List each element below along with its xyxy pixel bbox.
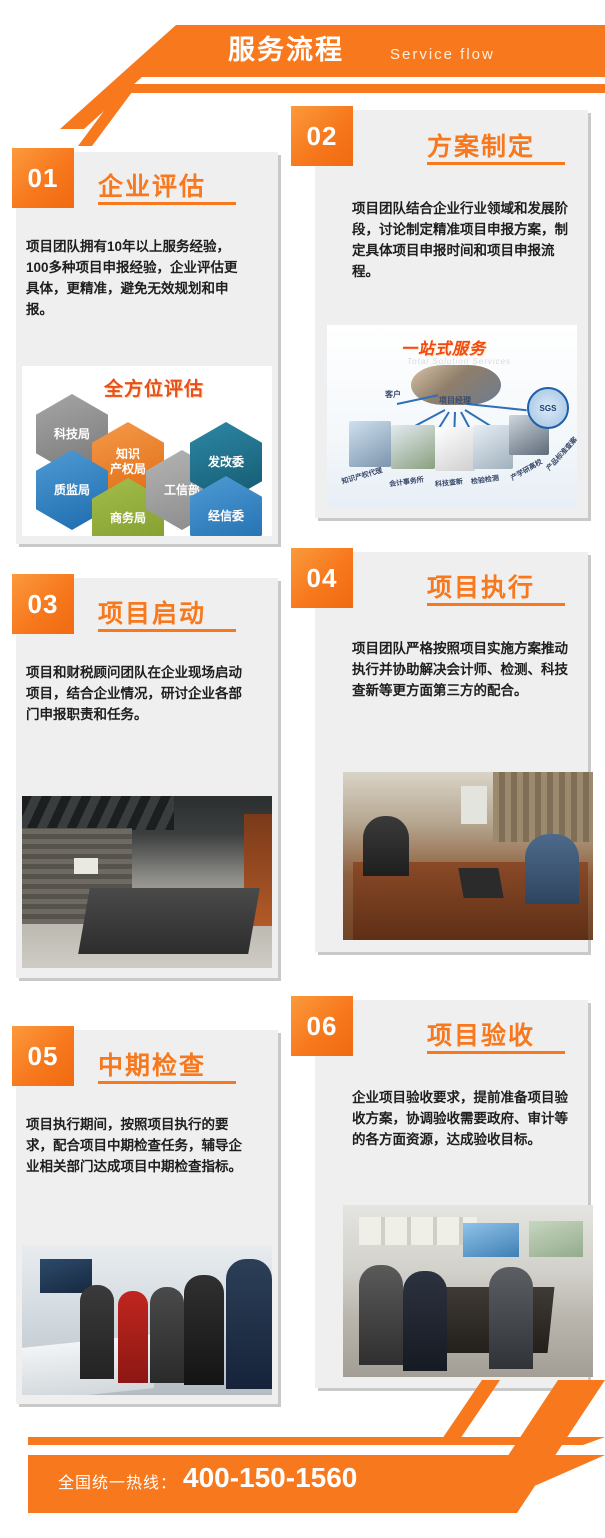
photo-laptop	[458, 868, 503, 898]
card-06-title: 项目验收	[427, 1016, 535, 1052]
photo-person	[359, 1265, 403, 1365]
photo-ceiling	[22, 796, 174, 830]
card-05-body: 项目执行期间，按照项目执行的要求，配合项目中期检查任务，辅导企业相关部门达成项目…	[26, 1114, 250, 1177]
oss-partner-photo-3	[435, 427, 475, 471]
footer-hotline-label: 全国统一热线：	[58, 1469, 177, 1493]
photo-certificates-wall	[359, 1217, 477, 1245]
header-underline	[105, 84, 605, 93]
card-04-body: 项目团队严格按照项目实施方案推动执行并协助解决会计师、检测、科技查新等更方面第三…	[352, 638, 574, 701]
card-06-number: 06	[307, 1011, 338, 1042]
footer-underline-wing	[440, 1380, 500, 1442]
seal-label: SGS	[540, 404, 557, 413]
photo-person	[150, 1287, 184, 1383]
oss-client-label: 客户	[385, 389, 401, 400]
oss-certification-seal: SGS	[527, 387, 569, 429]
card-02-rule	[427, 162, 565, 165]
card-03-number: 03	[28, 589, 59, 620]
page-title: 服务流程	[228, 33, 344, 67]
photo-person	[525, 834, 579, 904]
meeting-laptops-photo	[343, 772, 593, 940]
card-03-rule	[98, 629, 236, 632]
card-06-rule	[427, 1051, 565, 1054]
hex-label: 商务局	[110, 511, 146, 526]
card-02-title: 方案制定	[427, 127, 535, 163]
card-05-title: 中期检查	[98, 1046, 206, 1082]
hexagon-chart: 全方位评估 科技局 知识 产权局 质监局 商务局 工信部 发改委 经信委	[22, 366, 272, 536]
photo-person	[403, 1271, 447, 1371]
card-04-title: 项目执行	[427, 568, 535, 604]
card-04-rule	[427, 603, 565, 606]
card-05-rule	[98, 1081, 236, 1084]
page-header: 服务流程 Service flow	[0, 0, 605, 110]
hex-label: 知识 产权局	[110, 447, 146, 477]
card-01-badge: 01	[12, 148, 74, 208]
card-01-rule	[98, 202, 236, 205]
hexagon-chart-title: 全方位评估	[104, 374, 204, 401]
card-02-badge: 02	[291, 106, 353, 166]
footer-hotline-number[interactable]: 400-150-1560	[183, 1462, 357, 1494]
photo-person	[226, 1259, 272, 1389]
card-01-body: 项目团队拥有10年以上服务经验，100多种项目申报经验，企业评估更具体，更精准，…	[26, 236, 250, 320]
photo-person	[184, 1275, 224, 1385]
photo-display-screen	[40, 1259, 92, 1293]
card-05-number: 05	[28, 1041, 59, 1072]
card-06-body: 企业项目验收要求，提前准备项目验收方案，协调验收需要政府、审计等的各方面资源，达…	[352, 1087, 574, 1150]
showroom-visit-photo	[22, 1245, 272, 1395]
boardroom-acceptance-photo	[343, 1205, 593, 1377]
photo-whiteboard	[74, 858, 98, 874]
oss-partner-photo-2	[391, 425, 435, 469]
photo-green-board	[529, 1221, 583, 1257]
card-04-number: 04	[307, 563, 338, 594]
photo-person	[363, 816, 409, 876]
card-02-number: 02	[307, 121, 338, 152]
photo-table	[78, 888, 260, 954]
oss-center-label: 项目经理	[439, 395, 471, 406]
card-04-badge: 04	[291, 548, 353, 608]
oss-partner-photo-4	[473, 425, 513, 469]
oss-partner-photo-1	[349, 421, 391, 467]
hex-label: 质监局	[54, 483, 90, 498]
card-06-badge: 06	[291, 996, 353, 1056]
one-stop-service-diagram: 一站式服务 Total Solution Services 客户 项目经理 SG…	[327, 325, 577, 507]
card-03-badge: 03	[12, 574, 74, 634]
photo-person-red-coat	[118, 1291, 148, 1383]
hex-label: 发改委	[208, 455, 244, 470]
photo-projector-screen	[463, 1223, 519, 1257]
photo-curtain	[493, 772, 593, 842]
footer-top-line	[28, 1437, 605, 1445]
oss-title: 一站式服务	[401, 335, 486, 359]
service-flow-poster: 服务流程 Service flow 01 企业评估 项目团队拥有10年以上服务经…	[0, 0, 605, 1538]
photo-person	[489, 1267, 533, 1369]
header-orange-bar	[136, 25, 605, 77]
photo-ac-unit	[461, 786, 487, 824]
hex-label: 科技局	[54, 427, 90, 442]
card-01-title: 企业评估	[98, 167, 206, 203]
conference-room-photo	[22, 796, 272, 968]
photo-person	[80, 1285, 114, 1379]
card-03-body: 项目和财税顾问团队在企业现场启动项目，结合企业情况，研讨企业各部门申报职责和任务…	[26, 662, 250, 725]
card-05-badge: 05	[12, 1026, 74, 1086]
hex-label: 经信委	[208, 509, 244, 524]
card-03-title: 项目启动	[98, 594, 206, 630]
page-subtitle: Service flow	[390, 42, 495, 68]
card-01-number: 01	[28, 163, 59, 194]
card-02-body: 项目团队结合企业行业领域和发展阶段，讨论制定精准项目申报方案，制定具体项目申报时…	[352, 198, 574, 282]
